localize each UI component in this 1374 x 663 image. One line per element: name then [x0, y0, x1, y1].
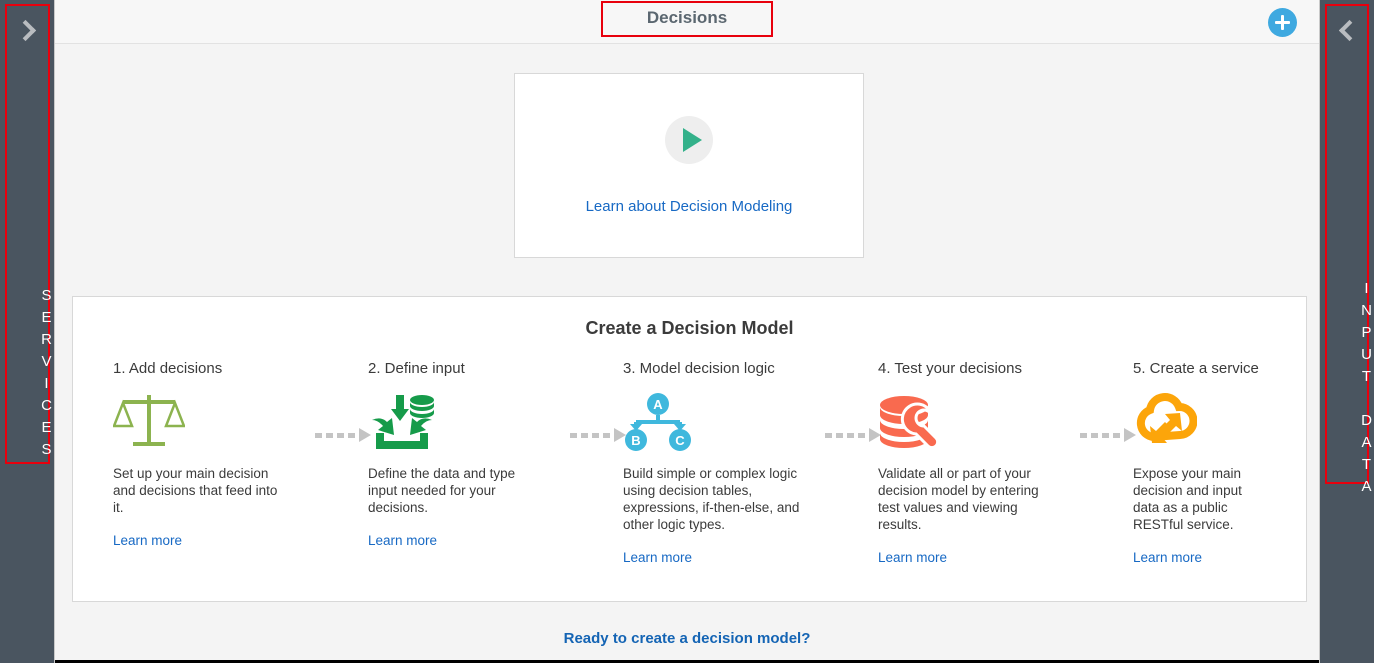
add-decision-button[interactable]: [1268, 8, 1297, 37]
step-1-heading: 1. Add decisions: [113, 360, 318, 377]
import-data-icon: [368, 391, 573, 453]
create-decision-model-title: Create a Decision Model: [73, 318, 1306, 339]
step-arrow-4: [1083, 360, 1133, 567]
create-decision-model-panel: Create a Decision Model 1. Add decisions: [72, 296, 1307, 602]
input-data-rail[interactable]: INPUT DATA: [1319, 0, 1374, 663]
input-data-rail-expand-button[interactable]: [1320, 8, 1374, 52]
step-create-service: 5. Create a service: [1133, 360, 1283, 567]
play-triangle: [683, 128, 702, 152]
ready-to-create-link[interactable]: Ready to create a decision model?: [55, 630, 1319, 647]
step-3-heading: 3. Model decision logic: [623, 360, 828, 377]
cloud-service-icon: [1133, 391, 1283, 453]
step-5-learn-more-link[interactable]: Learn more: [1133, 550, 1202, 565]
steps-row: 1. Add decisions: [73, 360, 1306, 567]
dashed-arrow-right-icon: [315, 428, 371, 442]
page-title-highlight: Decisions: [601, 1, 773, 37]
decisions-page: SERVICES Decisions Learn about Decision …: [0, 0, 1374, 663]
page-body: Learn about Decision Modeling Create a D…: [55, 44, 1319, 663]
database-wrench-icon: [878, 391, 1083, 453]
play-icon[interactable]: [665, 116, 713, 164]
chevron-left-icon: [1339, 19, 1360, 40]
tree-node-a-label: A: [653, 397, 663, 412]
step-3-description: Build simple or complex logic using deci…: [623, 465, 801, 533]
tree-node-c-label: C: [675, 433, 685, 448]
step-4-heading: 4. Test your decisions: [878, 360, 1083, 377]
services-rail-expand-button[interactable]: [0, 8, 55, 52]
step-1-description: Set up your main decision and decisions …: [113, 465, 291, 516]
balance-scale-icon: [113, 391, 318, 453]
step-arrow-3: [828, 360, 878, 567]
learn-video-card[interactable]: Learn about Decision Modeling: [514, 73, 864, 258]
services-rail[interactable]: SERVICES: [0, 0, 55, 663]
step-2-learn-more-link[interactable]: Learn more: [368, 533, 437, 548]
decision-tree-icon: A B C: [623, 391, 828, 453]
step-arrow-2: [573, 360, 623, 567]
step-model-decision-logic: 3. Model decision logic: [623, 360, 828, 567]
learn-video-link[interactable]: Learn about Decision Modeling: [586, 198, 793, 215]
step-2-heading: 2. Define input: [368, 360, 573, 377]
step-4-description: Validate all or part of your decision mo…: [878, 465, 1056, 533]
step-test-decisions: 4. Test your decisions: [878, 360, 1083, 567]
step-1-learn-more-link[interactable]: Learn more: [113, 533, 182, 548]
dashed-arrow-right-icon: [1080, 428, 1136, 442]
dashed-arrow-right-icon: [570, 428, 626, 442]
step-define-input: 2. Define input: [368, 360, 573, 567]
step-add-decisions: 1. Add decisions: [113, 360, 318, 567]
main-column: Decisions Learn about Decision Modeling …: [55, 0, 1319, 663]
services-rail-label: SERVICES: [0, 290, 55, 460]
step-3-learn-more-link[interactable]: Learn more: [623, 550, 692, 565]
step-5-heading: 5. Create a service: [1133, 360, 1283, 377]
step-5-description: Expose your main decision and input data…: [1133, 465, 1245, 533]
step-4-learn-more-link[interactable]: Learn more: [878, 550, 947, 565]
page-title: Decisions: [647, 8, 727, 27]
tree-node-b-label: B: [631, 433, 640, 448]
page-header: Decisions: [55, 0, 1319, 44]
chevron-right-icon: [15, 19, 36, 40]
step-arrow-1: [318, 360, 368, 567]
step-2-description: Define the data and type input needed fo…: [368, 465, 546, 516]
input-data-rail-label: INPUT DATA: [1320, 300, 1374, 480]
dashed-arrow-right-icon: [825, 428, 881, 442]
